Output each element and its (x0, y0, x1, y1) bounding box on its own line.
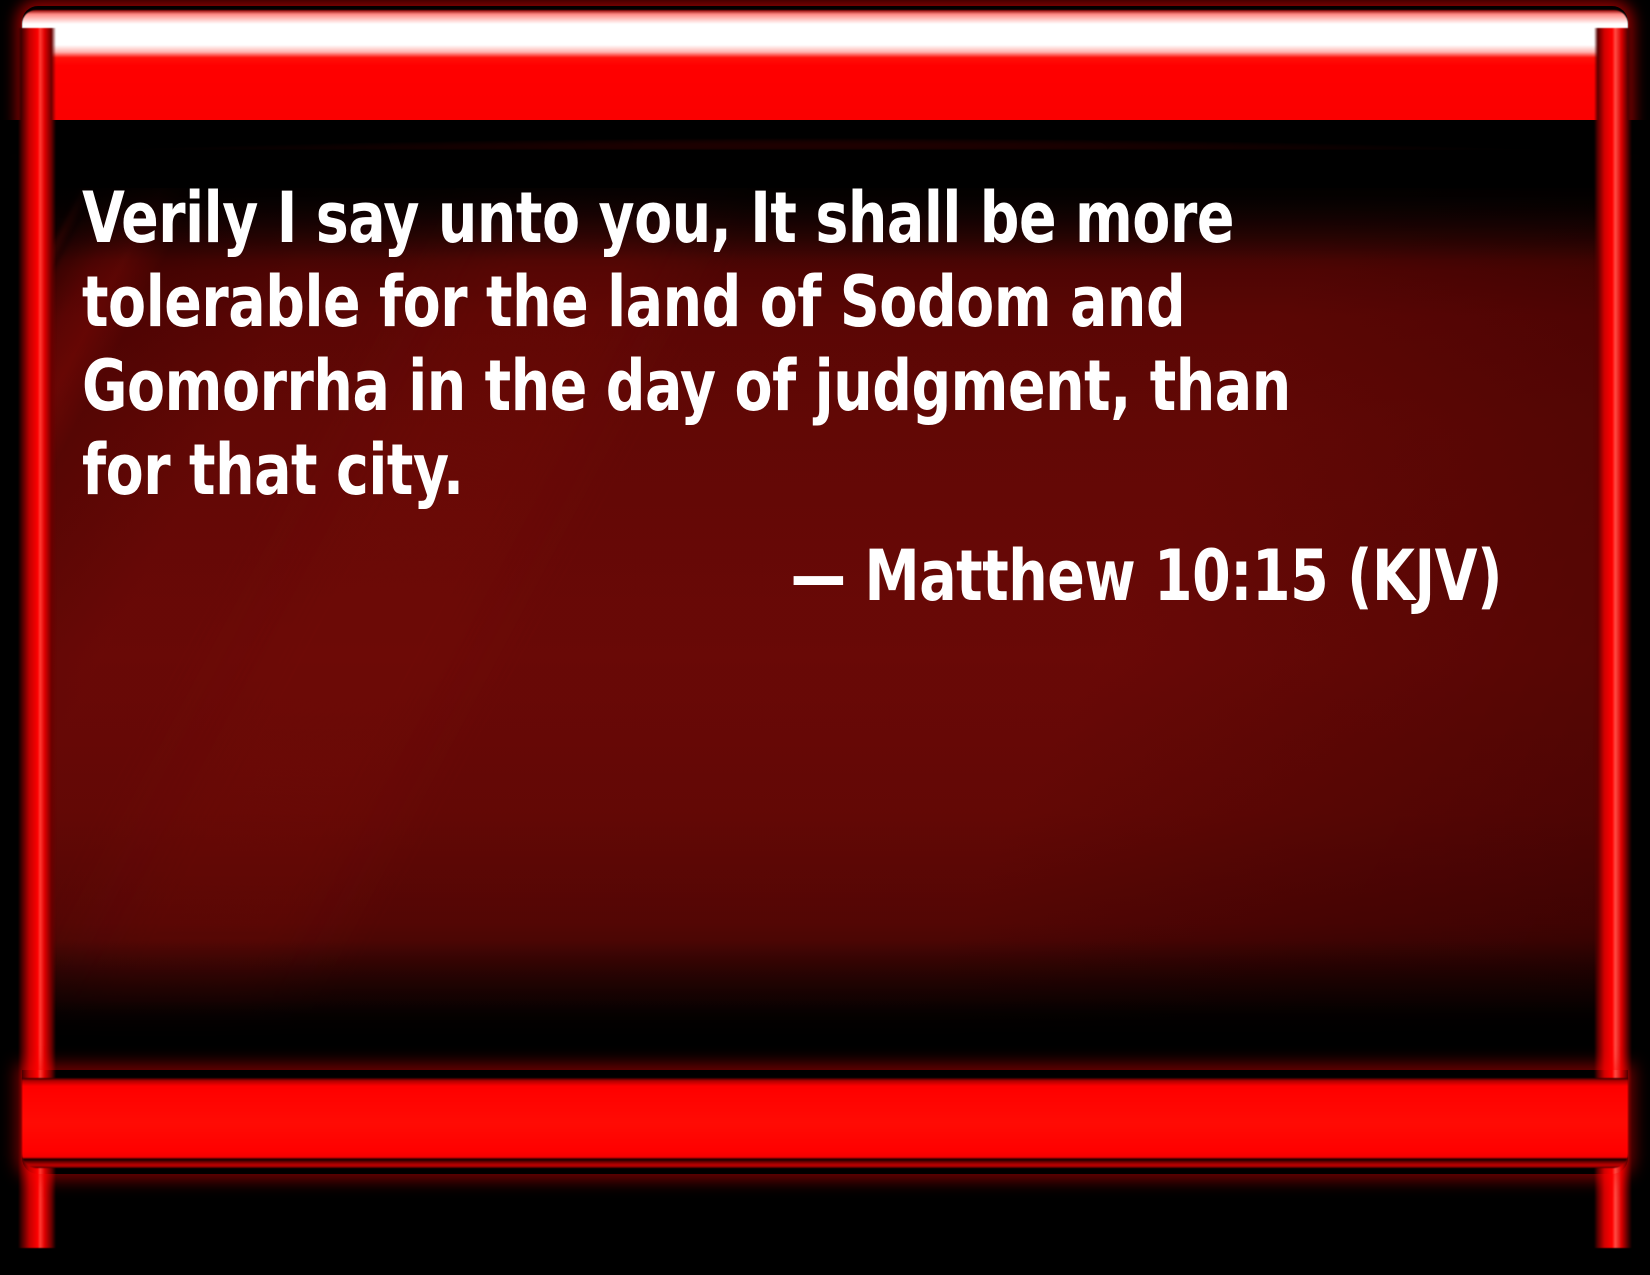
verse-block: Verily I say unto you, It shall be more … (82, 176, 1502, 618)
frame-right-bevel (1594, 28, 1632, 1248)
frame-left-bevel (18, 28, 56, 1248)
verse-text: Verily I say unto you, It shall be more … (82, 176, 1332, 512)
frame-bottom-shoulder (0, 1000, 1650, 1086)
verse-attribution: — Matthew 10:15 (KJV) (252, 512, 1502, 618)
frame-bottom-bevel (22, 1078, 1628, 1168)
verse-slide: Verily I say unto you, It shall be more … (0, 0, 1650, 1275)
